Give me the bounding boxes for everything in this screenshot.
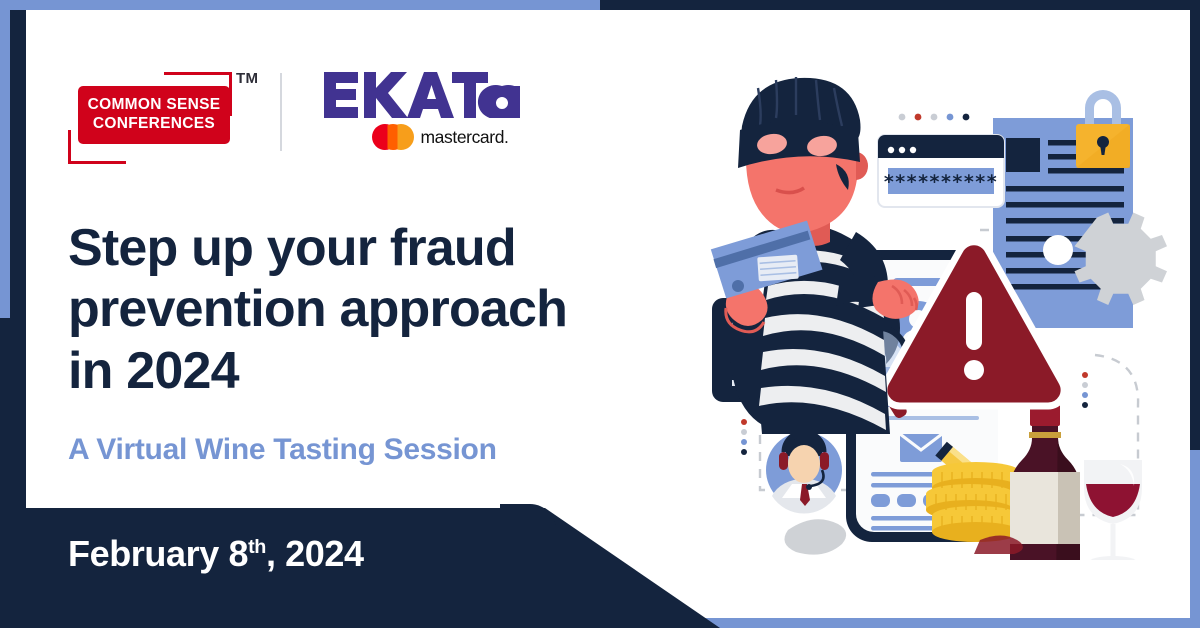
wine-glass bbox=[1084, 460, 1142, 560]
common-sense-line-1: COMMON SENSE bbox=[88, 96, 221, 115]
fraud-prevention-illustration: ********** ** bbox=[680, 60, 1180, 560]
accent-strip-right bbox=[1190, 450, 1200, 628]
dot-column-right bbox=[1082, 372, 1088, 408]
support-agent-avatar bbox=[766, 430, 842, 514]
common-sense-conferences-logo: COMMON SENSE CONFERENCES TM bbox=[68, 64, 268, 160]
svg-text:**********: ********** bbox=[884, 171, 998, 193]
headline-line-1: Step up your fraud bbox=[68, 218, 648, 279]
logo-divider bbox=[280, 73, 282, 151]
headline-line-2: prevention approach bbox=[68, 279, 648, 340]
common-sense-badge: COMMON SENSE CONFERENCES bbox=[78, 86, 230, 144]
event-date-year: , 2024 bbox=[266, 533, 364, 574]
dot-column-left bbox=[741, 419, 747, 455]
trademark-mark: TM bbox=[236, 70, 258, 87]
banner-content: COMMON SENSE CONFERENCES TM bbox=[68, 0, 668, 628]
ekata-mastercard-logo: mastercard. bbox=[324, 66, 524, 158]
envelope-icon bbox=[900, 434, 942, 462]
headline-line-3: in 2024 bbox=[68, 341, 648, 402]
accent-strip-left bbox=[0, 0, 10, 318]
padlock-icon bbox=[1076, 90, 1130, 168]
common-sense-line-2: CONFERENCES bbox=[93, 115, 215, 134]
page-subtitle: A Virtual Wine Tasting Session bbox=[68, 433, 497, 467]
event-date-ordinal: th bbox=[248, 536, 266, 558]
event-banner: ********** ** bbox=[0, 0, 1200, 628]
password-browser-window: ********** bbox=[878, 135, 1004, 207]
coin-stack bbox=[926, 462, 1020, 542]
mastercard-wordmark: mastercard. bbox=[421, 127, 509, 148]
logo-row: COMMON SENSE CONFERENCES TM bbox=[68, 64, 524, 160]
event-date-monthday: February 8 bbox=[68, 533, 248, 574]
ekata-wordmark bbox=[324, 72, 520, 118]
dot-row-indicator bbox=[899, 114, 970, 121]
wine-bottle bbox=[1010, 404, 1080, 560]
accent-strip-bottom bbox=[690, 618, 1200, 628]
mastercard-logo: mastercard. bbox=[372, 124, 509, 150]
mastercard-circles-icon bbox=[372, 124, 414, 150]
event-date: February 8th, 2024 bbox=[68, 533, 364, 575]
page-title: Step up your fraud prevention approach i… bbox=[68, 218, 648, 402]
